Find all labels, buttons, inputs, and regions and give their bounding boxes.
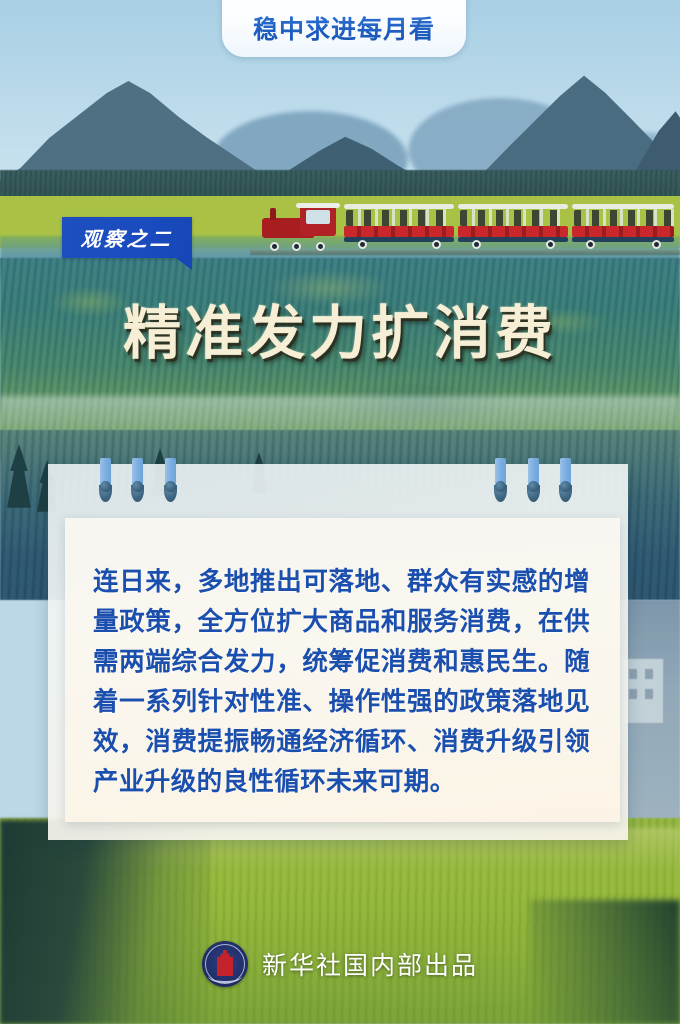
logo-arc-text [208, 969, 242, 983]
sightseeing-train [262, 198, 674, 254]
pin-icon [559, 458, 572, 504]
pin-icon [527, 458, 540, 504]
article-card: 连日来，多地推出可落地、群众有实感的增量政策，全方位扩大商品和服务消费，在供需两… [65, 518, 620, 822]
xinhua-logo-icon [202, 941, 248, 987]
train-carriage [458, 204, 568, 246]
pin-icon [99, 458, 112, 504]
train-carriage [572, 204, 674, 246]
building [622, 658, 664, 724]
pin-icon [494, 458, 507, 504]
page-title: 精准发力扩消费 [0, 286, 680, 370]
locomotive [262, 206, 336, 246]
top-badge-label: 稳中求进每月看 [253, 10, 435, 46]
train-carriage [344, 204, 454, 246]
poster-root: 稳中求进每月看 观察之二 精准发力扩消费 连日来，多地推出可落地、群众有实感的增… [0, 0, 680, 1024]
article-body: 连日来，多地推出可落地、群众有实感的增量政策，全方位扩大商品和服务消费，在供需两… [93, 562, 590, 802]
footer-label: 新华社国内部出品 [262, 946, 478, 982]
pin-icon [131, 458, 144, 504]
series-flag-tag: 观察之二 [62, 217, 192, 258]
series-flag-label: 观察之二 [80, 223, 174, 252]
pin-icon [164, 458, 177, 504]
footer: 新华社国内部出品 [0, 934, 680, 994]
top-badge: 稳中求进每月看 [222, 0, 466, 57]
